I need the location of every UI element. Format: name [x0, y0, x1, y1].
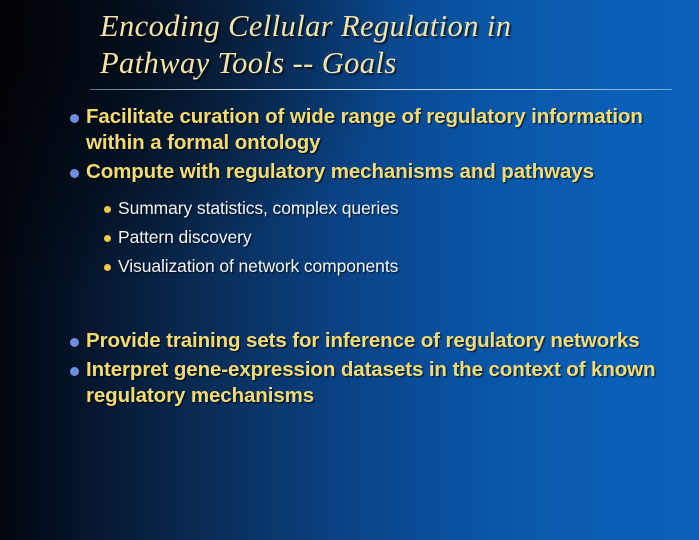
bullet-item-level1: Provide training sets for inference of r… [0, 328, 699, 354]
slide-title: Encoding Cellular Regulation in Pathway … [100, 8, 680, 82]
bullet-text: Pattern discovery [118, 226, 252, 249]
bullet-dot-icon [104, 206, 111, 213]
bullet-dot-icon [104, 235, 111, 242]
bullet-item-level2: Summary statistics, complex queries [0, 197, 699, 220]
bullet-dot-icon [70, 169, 79, 178]
bullet-dot-icon [70, 114, 79, 123]
bullet-item-level1: Compute with regulatory mechanisms and p… [0, 159, 699, 185]
spacer [0, 189, 699, 197]
slide-title-line-1: Encoding Cellular Regulation in [100, 8, 680, 45]
slide-body: Facilitate curation of wide range of reg… [0, 104, 699, 412]
bullet-dot-icon [70, 367, 79, 376]
bullet-text: Visualization of network components [118, 255, 398, 278]
slide-title-line-2: Pathway Tools -- Goals [100, 45, 680, 82]
bullet-dot-icon [104, 264, 111, 271]
bullet-item-level2: Visualization of network components [0, 255, 699, 278]
bullet-text: Provide training sets for inference of r… [86, 328, 640, 354]
bullet-text: Facilitate curation of wide range of reg… [86, 104, 662, 155]
spacer [0, 284, 699, 328]
bullet-item-level2: Pattern discovery [0, 226, 699, 249]
bullet-text: Interpret gene-expression datasets in th… [86, 357, 662, 408]
presentation-slide: Encoding Cellular Regulation in Pathway … [0, 0, 699, 540]
bullet-item-level1: Interpret gene-expression datasets in th… [0, 357, 699, 408]
title-divider-rule [90, 89, 672, 90]
bullet-dot-icon [70, 338, 79, 347]
bullet-item-level1: Facilitate curation of wide range of reg… [0, 104, 699, 155]
bullet-text: Compute with regulatory mechanisms and p… [86, 159, 594, 185]
bullet-text: Summary statistics, complex queries [118, 197, 398, 220]
